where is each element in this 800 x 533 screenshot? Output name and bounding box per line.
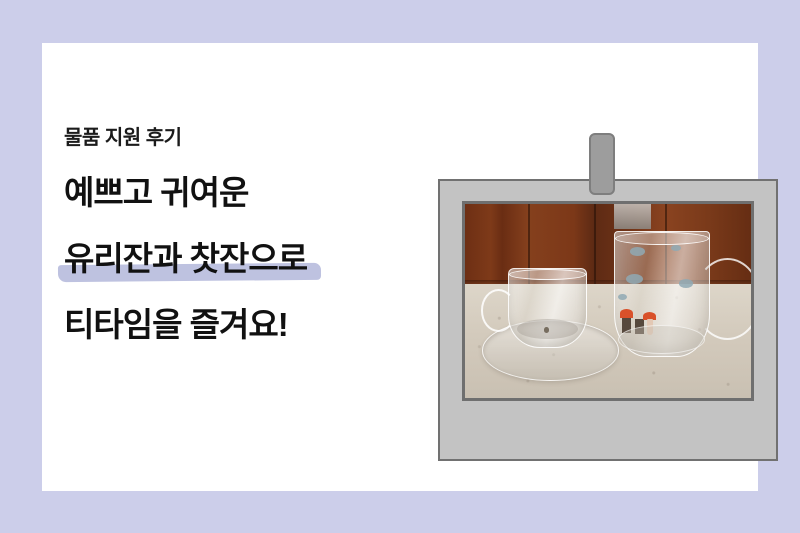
- mug-rim: [615, 232, 709, 245]
- headline-line-2-text: 유리잔과 찻잔으로: [64, 240, 307, 277]
- highlighted-phrase: 유리잔과 찻잔으로: [64, 242, 307, 275]
- teacup-handle: [481, 289, 516, 332]
- screenshot-canvas: 물품 지원 후기 예쁘고 귀여운 유리잔과 찻잔으로 티타임을 즐겨요!: [0, 0, 800, 533]
- glass-mug: [614, 231, 710, 357]
- mug-cloud-decal: [626, 274, 643, 284]
- headline-line-1-text: 예쁘고 귀여운: [64, 174, 248, 211]
- headline-line-3: 티타임을 즐겨요!: [64, 308, 414, 341]
- teacup-rim: [509, 269, 586, 280]
- glass-teacup: [508, 268, 587, 348]
- teacup-base-mark: [544, 327, 549, 332]
- mug-cloud-decal: [671, 245, 680, 251]
- mug-cloud-decal: [679, 279, 693, 288]
- mug-cloud-decal: [630, 247, 645, 256]
- photo-image: [462, 201, 754, 401]
- eyebrow-label: 물품 지원 후기: [64, 128, 414, 148]
- text-block: 물품 지원 후기 예쁘고 귀여운 유리잔과 찻잔으로 티타임을 즐겨요!: [64, 128, 414, 341]
- metal-strip: [614, 204, 651, 229]
- headline-line-2: 유리잔과 찻잔으로: [64, 242, 414, 275]
- photo-clip-icon: [589, 133, 615, 195]
- cabinet-seam: [594, 204, 596, 284]
- polaroid-photo-frame: [438, 179, 778, 461]
- white-card: 물품 지원 후기 예쁘고 귀여운 유리잔과 찻잔으로 티타임을 즐겨요!: [42, 43, 758, 491]
- headline-line-1: 예쁘고 귀여운: [64, 176, 414, 209]
- mug-cloud-decal: [618, 294, 626, 300]
- mug-base: [618, 325, 705, 354]
- mug-mushroom-cap-decal: [620, 309, 632, 318]
- photo-scene: [465, 204, 751, 398]
- headline-line-3-text: 티타임을 즐겨요!: [64, 306, 288, 343]
